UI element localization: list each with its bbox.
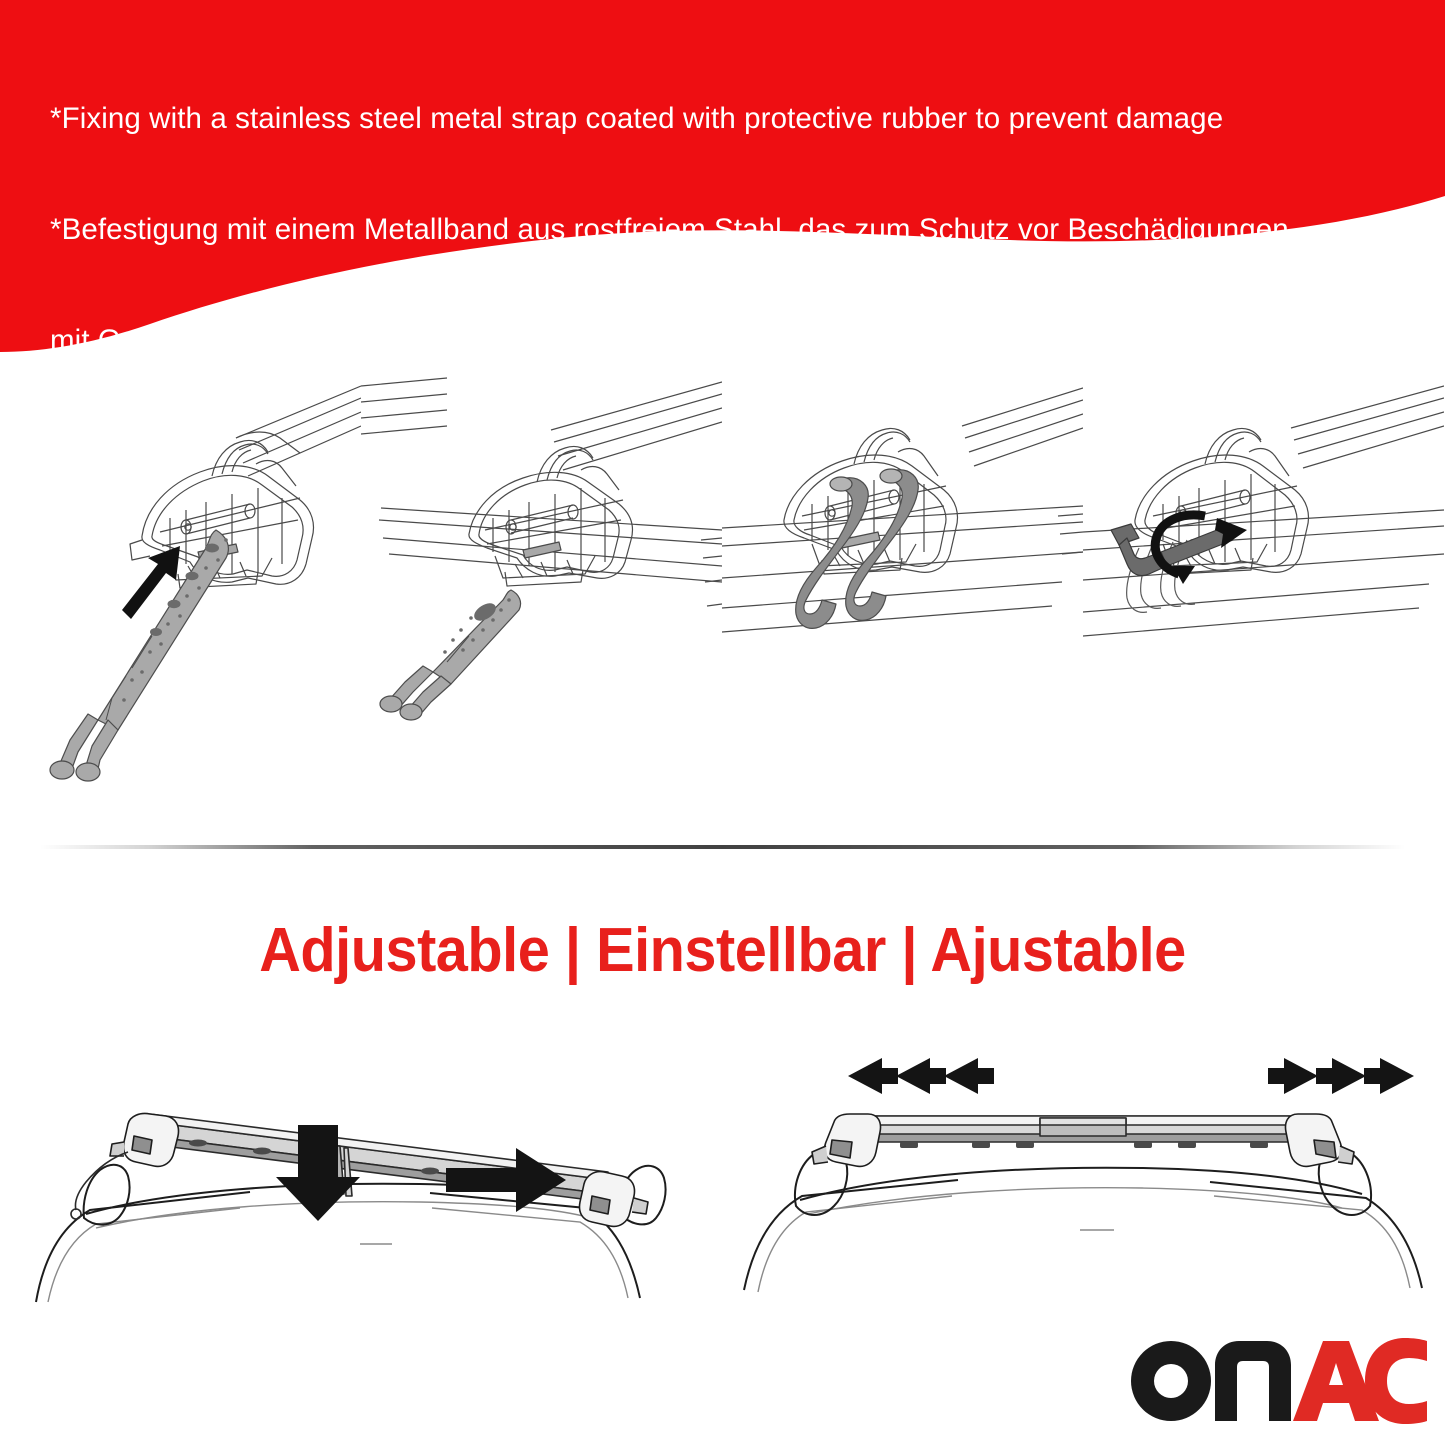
installation-steps-strip [0, 368, 1445, 818]
red-header-banner: *Fixing with a stainless steel metal str… [0, 0, 1445, 370]
metal-strap [380, 590, 521, 720]
step1-diagram [0, 368, 361, 818]
crossbar-foot-left [110, 1113, 179, 1166]
crossbar-width-diagram [722, 1030, 1444, 1330]
install-step-4 [1083, 368, 1444, 818]
adjustability-diagrams [0, 1030, 1445, 1330]
install-step-3 [722, 368, 1083, 818]
crossbar [850, 1116, 1316, 1148]
omac-logo [1127, 1335, 1427, 1427]
banner-line-en: *Fixing with a stainless steel metal str… [50, 100, 1425, 137]
metal-strap [50, 530, 228, 781]
step2-diagram [361, 368, 722, 818]
product-infographic-page: *Fixing with a stainless steel metal str… [0, 0, 1445, 1445]
install-step-1 [0, 368, 361, 818]
arrows-triple-right [1268, 1058, 1414, 1094]
crossbar-foot-right [580, 1172, 649, 1227]
step3-diagram [722, 368, 1083, 818]
section-divider [40, 845, 1405, 849]
banner-line-de-2: mit Gummi überzogen ist [50, 322, 1425, 359]
crossbar-foot-right [1286, 1114, 1355, 1166]
banner-line-de-1: *Befestigung mit einem Metallband aus ro… [50, 211, 1425, 248]
adjust-diagram-right [722, 1030, 1444, 1330]
omac-logo-mark [1127, 1335, 1427, 1427]
crossbar-foot-left [812, 1114, 881, 1166]
step4-diagram [1083, 368, 1444, 818]
arrows-triple-left [848, 1058, 994, 1094]
adjust-diagram-left [0, 1030, 722, 1330]
logo-letter-m [1215, 1341, 1291, 1421]
adjustable-headline: Adjustable | Einstellbar | Ajustable [51, 915, 1395, 986]
logo-letter-o [1131, 1341, 1211, 1421]
install-step-2 [361, 368, 722, 818]
crossbar-lowering-diagram [0, 1030, 722, 1330]
